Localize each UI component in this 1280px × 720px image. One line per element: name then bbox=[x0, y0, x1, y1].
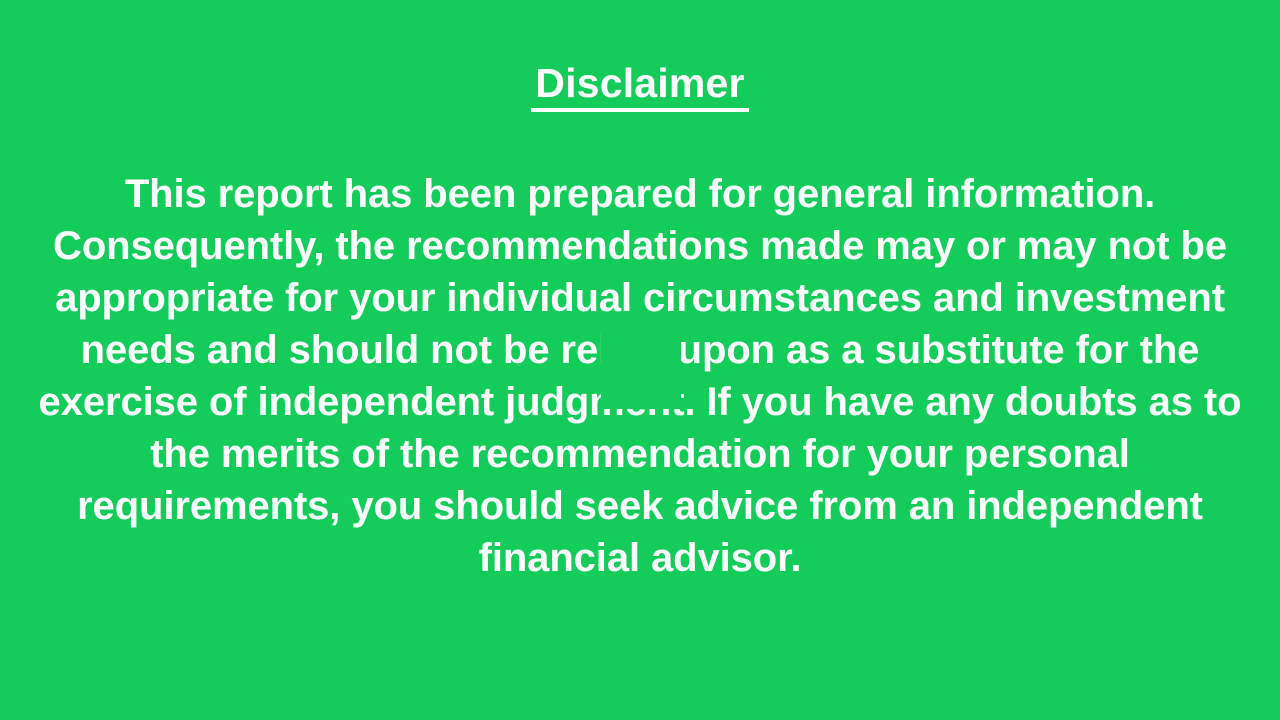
body-line: exercise of independent judgment. If you… bbox=[18, 376, 1262, 428]
title-block: Disclaimer bbox=[0, 60, 1280, 112]
body-line: This report has been prepared for genera… bbox=[18, 168, 1262, 220]
body-line: needs and should not be relied upon as a… bbox=[18, 324, 1262, 376]
body-line: financial advisor. bbox=[18, 532, 1262, 584]
body-line: appropriate for your individual circumst… bbox=[18, 272, 1262, 324]
slide-title: Disclaimer bbox=[535, 60, 744, 112]
disclaimer-body: This report has been prepared for genera… bbox=[18, 168, 1262, 584]
body-line: Consequently, the recommendations made m… bbox=[18, 220, 1262, 272]
body-line: requirements, you should seek advice fro… bbox=[18, 480, 1262, 532]
body-line: the merits of the recommendation for you… bbox=[18, 428, 1262, 480]
slide-canvas: Disclaimer This report has been prepared… bbox=[0, 0, 1280, 720]
